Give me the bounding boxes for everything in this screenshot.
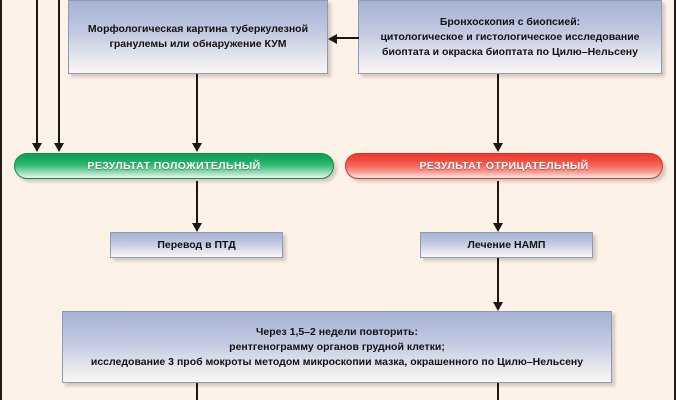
node-repeat-line-1: Через 1,5–2 недели повторить: [256,325,418,340]
connector-incoming-left-2-arrow [54,143,64,152]
node-bronchoscopy-line-3: биоптата и окраска биоптата по Цилю–Нель… [382,45,638,60]
connector-positive-to-transfer-arrow [192,223,202,232]
connector-incoming-left-2-line [58,0,60,146]
connector-treatment-to-repeat-line [497,258,499,305]
connector-bronchoscopy-to-morphology-arrow [328,34,337,44]
connector-morphology-to-positive-arrow [192,143,202,152]
node-repeat-line-2: рентгенограмму органов грудной клетки; [229,340,445,355]
node-morphology-box[interactable]: Морфологическая картина туберкулезной гр… [68,0,328,74]
node-treatment-line-1: Лечение НАМП [468,238,546,253]
connector-treatment-to-repeat-arrow [493,302,503,311]
node-repeat-box[interactable]: Через 1,5–2 недели повторить: рентгеногр… [62,311,612,383]
connector-bronchoscopy-to-negative-arrow [493,143,503,152]
connector-morphology-to-positive-line [196,74,198,146]
connector-incoming-left-1-arrow [32,143,42,152]
node-transfer-box[interactable]: Перевод в ПТД [110,232,283,258]
node-bronchoscopy-line-1: Бронхоскопия с биопсией: [440,15,580,30]
connector-negative-to-treatment-arrow [493,223,503,232]
node-bronchoscopy-line-2: цитологическое и гистологическое исследо… [380,30,639,45]
connector-repeat-out-right [497,383,499,400]
node-morphology-line-2: гранулемы или обнаружение КУМ [109,37,286,52]
node-result-negative[interactable]: РЕЗУЛЬТАТ ОТРИЦАТЕЛЬНЫЙ [345,153,663,179]
connector-repeat-out-left [196,383,198,400]
connector-positive-to-transfer-line [196,181,198,226]
node-result-positive[interactable]: РЕЗУЛЬТАТ ПОЛОЖИТЕЛЬНЫЙ [14,153,334,179]
node-treatment-box[interactable]: Лечение НАМП [420,232,593,258]
connector-bronchoscopy-to-negative-line [497,74,499,146]
node-result-positive-label: РЕЗУЛЬТАТ ПОЛОЖИТЕЛЬНЫЙ [87,160,260,172]
node-result-negative-label: РЕЗУЛЬТАТ ОТРИЦАТЕЛЬНЫЙ [419,160,588,172]
connector-bronchoscopy-to-morphology-line [337,37,359,39]
node-morphology-line-1: Морфологическая картина туберкулезной [88,22,308,37]
flowchart-canvas: Морфологическая картина туберкулезной гр… [0,0,676,400]
connector-negative-to-treatment-line [497,181,499,226]
connector-incoming-left-1-line [36,0,38,146]
node-repeat-line-3: исследование 3 проб мокроты методом микр… [91,355,583,370]
node-transfer-line-1: Перевод в ПТД [157,238,235,253]
node-bronchoscopy-box[interactable]: Бронхоскопия с биопсией: цитологическое … [358,0,662,74]
frame-border-left [0,0,2,400]
